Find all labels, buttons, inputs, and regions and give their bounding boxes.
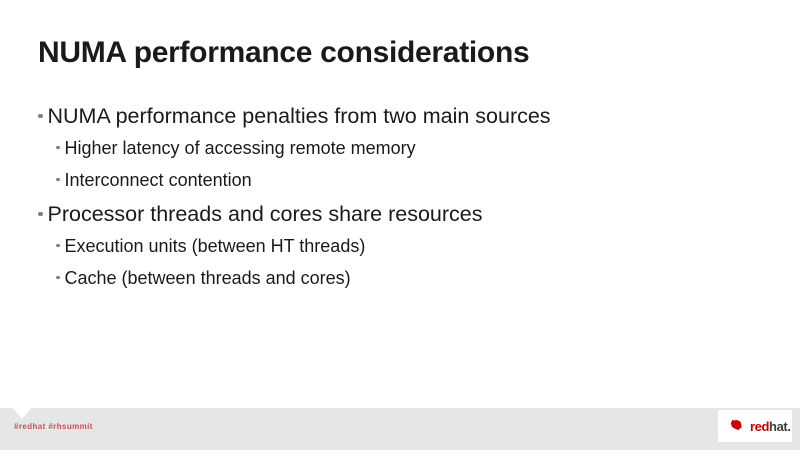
bullet-list: NUMA performance penalties from two main… (38, 104, 738, 300)
bullet-dot-icon (38, 212, 43, 217)
list-item: Interconnect contention (56, 170, 738, 202)
list-item-label: Higher latency of accessing remote memor… (65, 138, 416, 159)
slide-canvas: NUMA performance considerations NUMA per… (0, 0, 800, 450)
list-item: NUMA performance penalties from two main… (38, 104, 738, 138)
wordmark-hat: hat. (769, 419, 791, 434)
redhat-logo-lockup: redhat. (718, 410, 792, 442)
redhat-shadowman-logo-icon (722, 414, 746, 438)
list-item: Execution units (between HT threads) (56, 236, 738, 268)
list-item-label: Processor threads and cores share resour… (48, 202, 483, 227)
bullet-dot-icon (38, 114, 43, 119)
footer-notch-triangle-icon (13, 408, 31, 419)
bullet-dot-icon (56, 146, 60, 150)
list-item: Processor threads and cores share resour… (38, 202, 738, 236)
slide-footer (0, 408, 800, 450)
redhat-wordmark: redhat. (750, 420, 791, 433)
page-title: NUMA performance considerations (38, 36, 529, 70)
bullet-dot-icon (56, 276, 60, 280)
wordmark-red: red (750, 419, 769, 434)
list-item: Higher latency of accessing remote memor… (56, 138, 738, 170)
list-item-label: Execution units (between HT threads) (65, 236, 366, 257)
list-item-label: Interconnect contention (65, 170, 252, 191)
list-item: Cache (between threads and cores) (56, 268, 738, 300)
footer-hashtags: #redhat #rhsummit (14, 422, 93, 431)
bullet-dot-icon (56, 244, 60, 248)
list-item-label: Cache (between threads and cores) (65, 268, 351, 289)
list-item-label: NUMA performance penalties from two main… (48, 104, 551, 129)
bullet-dot-icon (56, 178, 60, 182)
